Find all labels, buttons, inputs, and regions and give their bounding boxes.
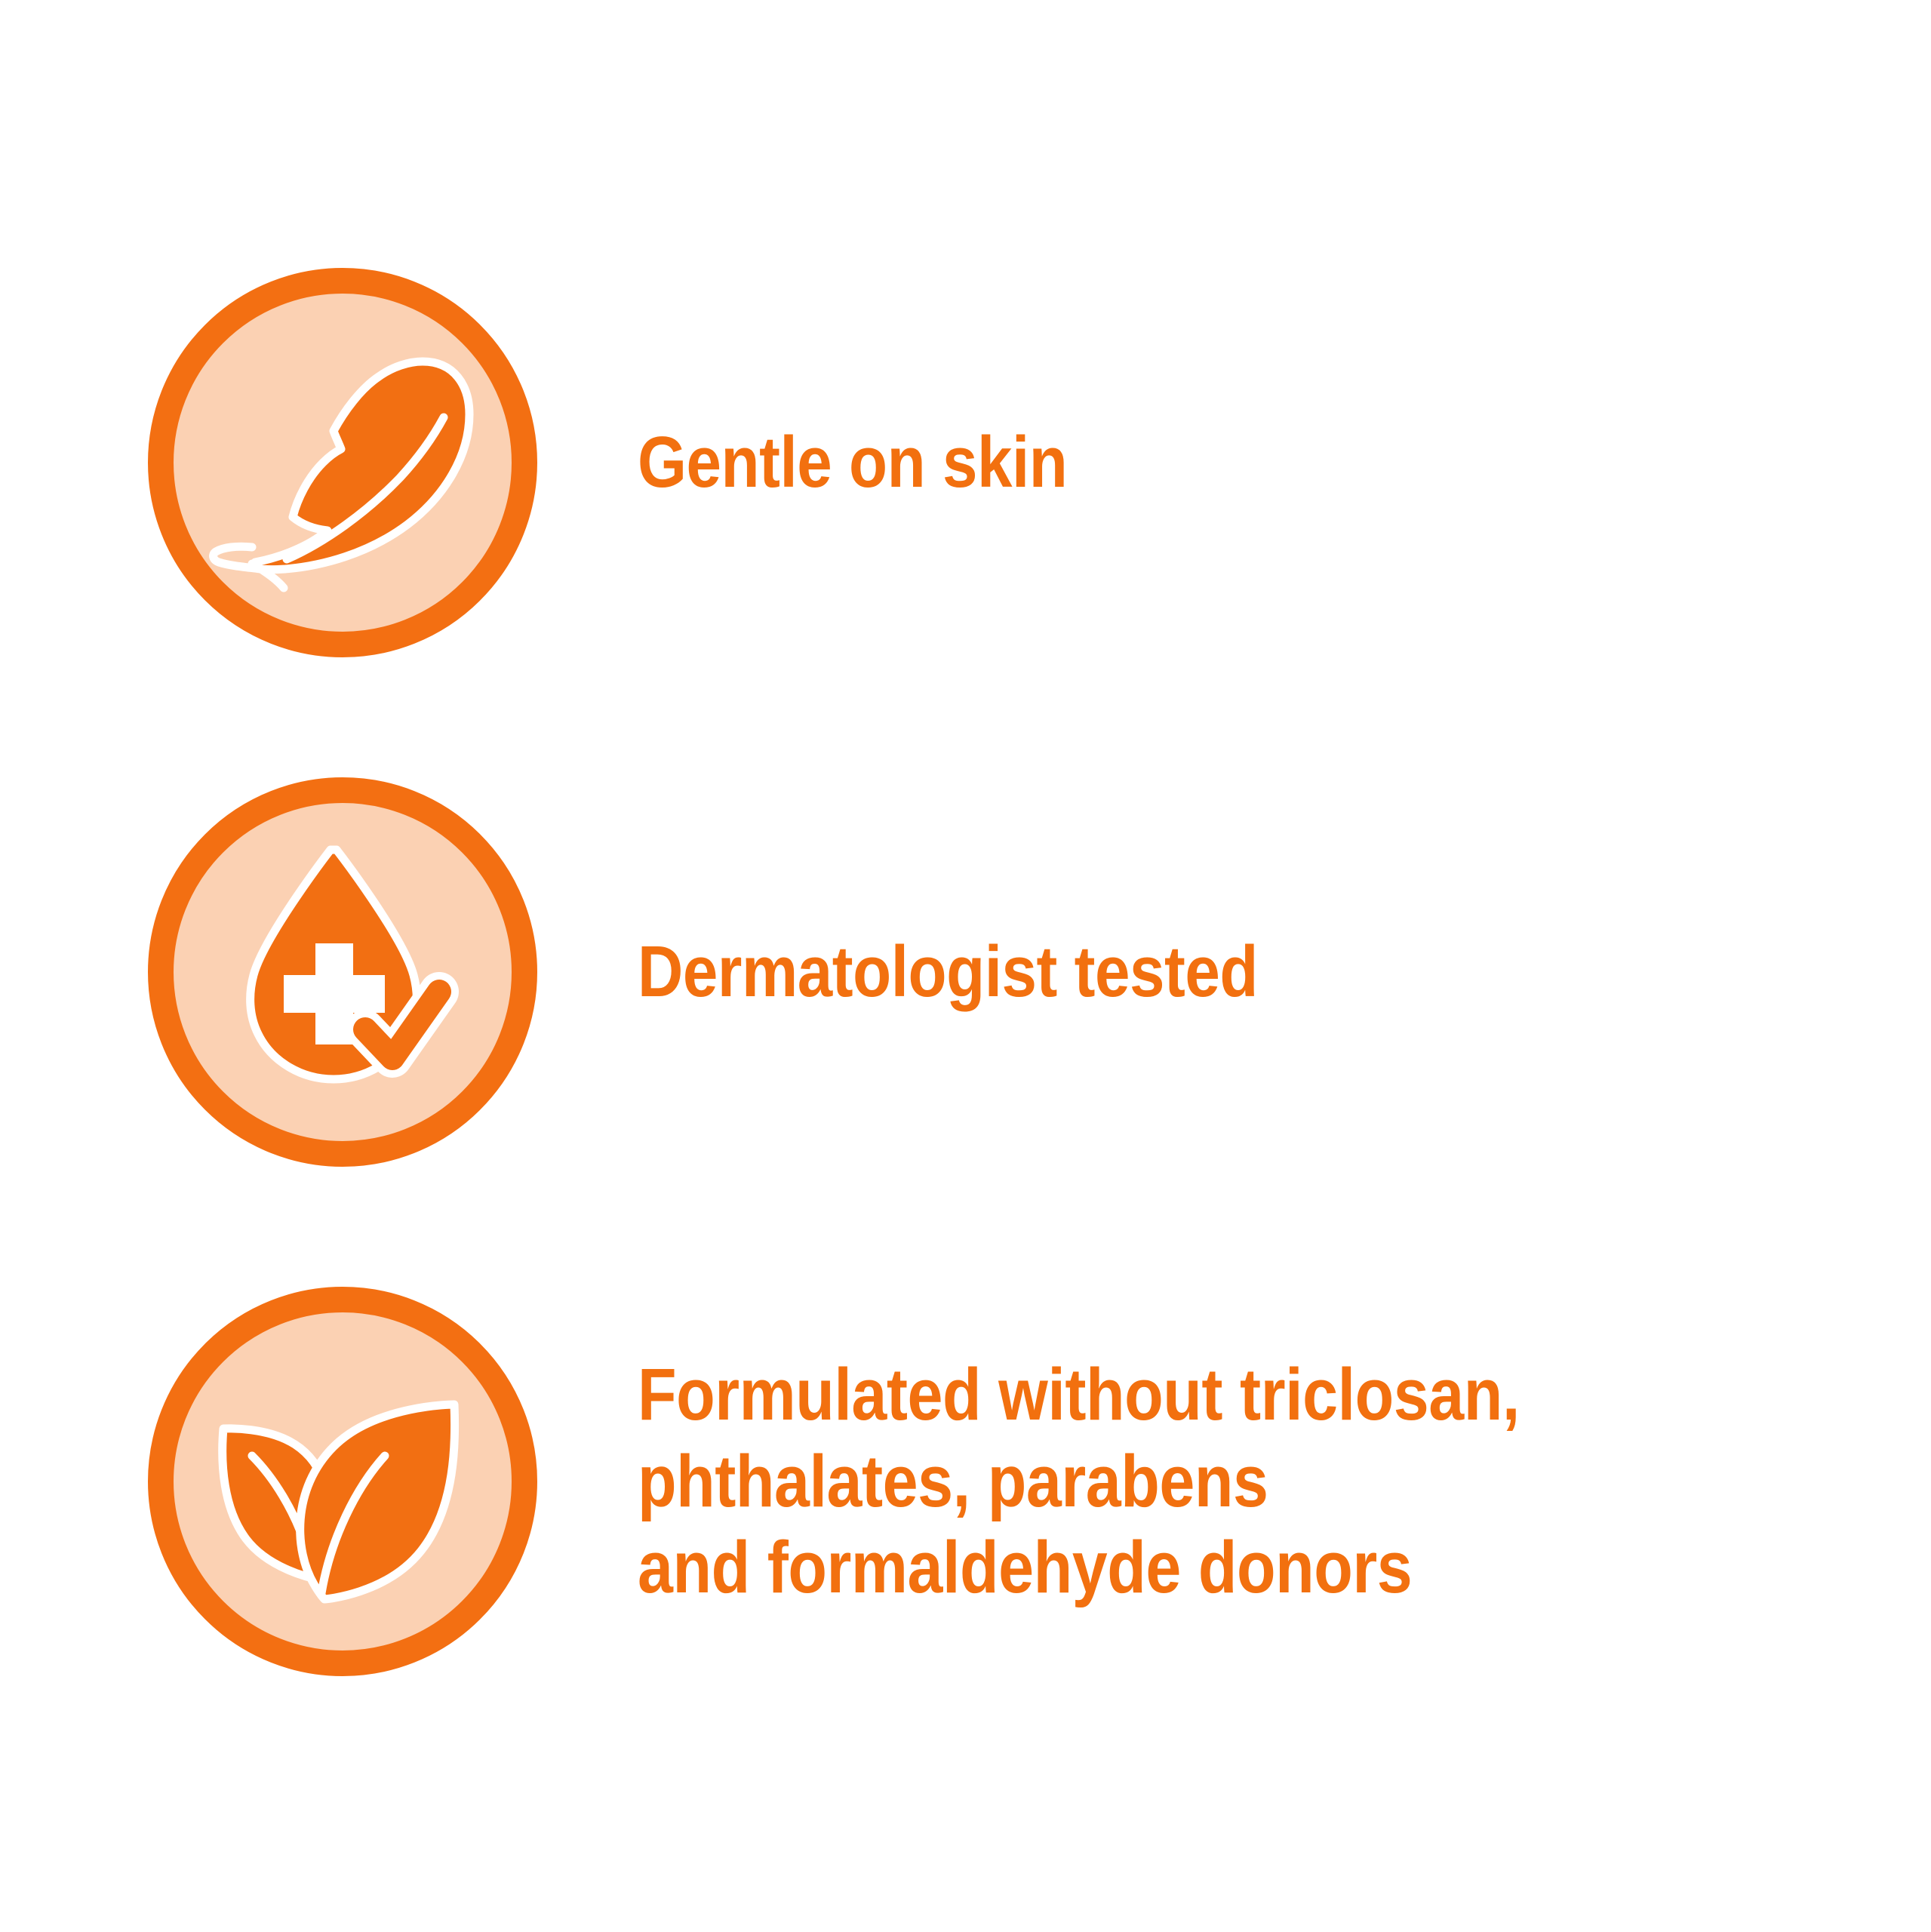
leaves-icon-badge xyxy=(148,1287,537,1676)
droplet-medical-cross-check-icon xyxy=(174,803,512,1141)
benefit-label-gentle-on-skin: Gentle on skin xyxy=(638,420,1763,505)
feather-icon xyxy=(174,294,512,632)
benefit-row-gentle-on-skin: Gentle on skin xyxy=(0,268,1931,657)
droplet-medical-cross-check-icon-badge xyxy=(148,777,537,1167)
feather-icon-badge xyxy=(148,268,537,657)
leaves-icon xyxy=(174,1312,512,1651)
benefit-row-formulated-without: Formulated without triclosan, phthalates… xyxy=(0,1287,1931,1676)
benefit-row-dermatologist-tested: Dermatologist tested xyxy=(0,777,1931,1167)
benefit-label-dermatologist-tested: Dermatologist tested xyxy=(638,930,1763,1014)
benefits-panel: Gentle on skin Dermatologist tested xyxy=(0,0,1931,1932)
benefit-label-formulated-without: Formulated without triclosan, phthalates… xyxy=(638,1352,1763,1611)
